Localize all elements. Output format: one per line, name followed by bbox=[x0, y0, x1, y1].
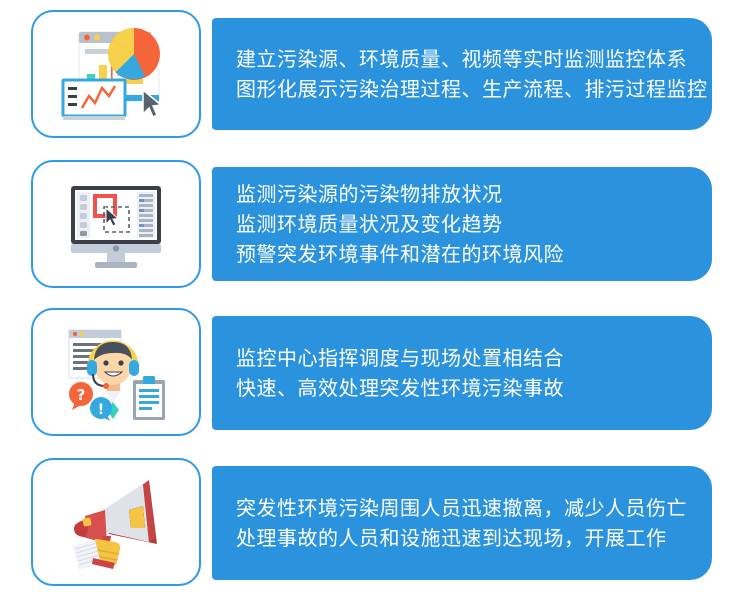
text-panel-3: 监控中心指挥调度与现场处置相结合 快速、高效处理突发性环境污染事故 bbox=[212, 316, 712, 430]
feature-line: 监控中心指挥调度与现场处置相结合 bbox=[236, 343, 694, 373]
feature-row-4: 突发性环境污染周围人员迅速撤离，减少人员伤亡 处理事故的人员和设施迅速到达现场，… bbox=[0, 448, 750, 597]
icon-card-2[interactable] bbox=[31, 160, 201, 288]
feature-line: 建立污染源、环境质量、视频等实时监测监控体系 bbox=[236, 44, 694, 74]
megaphone-announcement-icon bbox=[57, 472, 175, 572]
icon-card-3[interactable]: ? ! bbox=[31, 308, 201, 436]
feature-line: 突发性环境污染周围人员迅速撤离，减少人员伤亡 bbox=[236, 493, 694, 523]
feature-line: 监测环境质量状况及变化趋势 bbox=[236, 209, 694, 239]
feature-row-2: 监测污染源的污染物排放状况 监测环境质量状况及变化趋势 预警突发环境事件和潜在的… bbox=[0, 148, 750, 298]
desktop-monitor-selection-icon bbox=[57, 174, 175, 274]
feature-line: 预警突发环境事件和潜在的环境风险 bbox=[236, 239, 694, 269]
svg-text:!: ! bbox=[98, 402, 104, 418]
icon-card-1[interactable] bbox=[31, 10, 201, 138]
feature-line: 监测污染源的污染物排放状况 bbox=[236, 179, 694, 209]
feature-list-board: 建立污染源、环境质量、视频等实时监测监控体系 图形化展示污染治理过程、生产流程、… bbox=[0, 0, 750, 597]
feature-row-3: ? ! 监控 bbox=[0, 298, 750, 448]
icon-card-4[interactable] bbox=[31, 458, 201, 586]
support-operator-headset-icon: ? ! bbox=[57, 322, 175, 422]
feature-line: 处理事故的人员和设施迅速到达现场，开展工作 bbox=[236, 523, 694, 553]
svg-text:?: ? bbox=[77, 386, 86, 404]
feature-line: 快速、高效处理突发性环境污染事故 bbox=[236, 373, 694, 403]
text-panel-2: 监测污染源的污染物排放状况 监测环境质量状况及变化趋势 预警突发环境事件和潜在的… bbox=[212, 167, 712, 281]
analytics-dashboard-icon bbox=[57, 24, 175, 124]
text-panel-4: 突发性环境污染周围人员迅速撤离，减少人员伤亡 处理事故的人员和设施迅速到达现场，… bbox=[212, 466, 712, 580]
feature-row-1: 建立污染源、环境质量、视频等实时监测监控体系 图形化展示污染治理过程、生产流程、… bbox=[0, 0, 750, 148]
text-panel-1: 建立污染源、环境质量、视频等实时监测监控体系 图形化展示污染治理过程、生产流程、… bbox=[212, 18, 712, 130]
feature-line: 图形化展示污染治理过程、生产流程、排污过程监控 bbox=[236, 74, 694, 104]
